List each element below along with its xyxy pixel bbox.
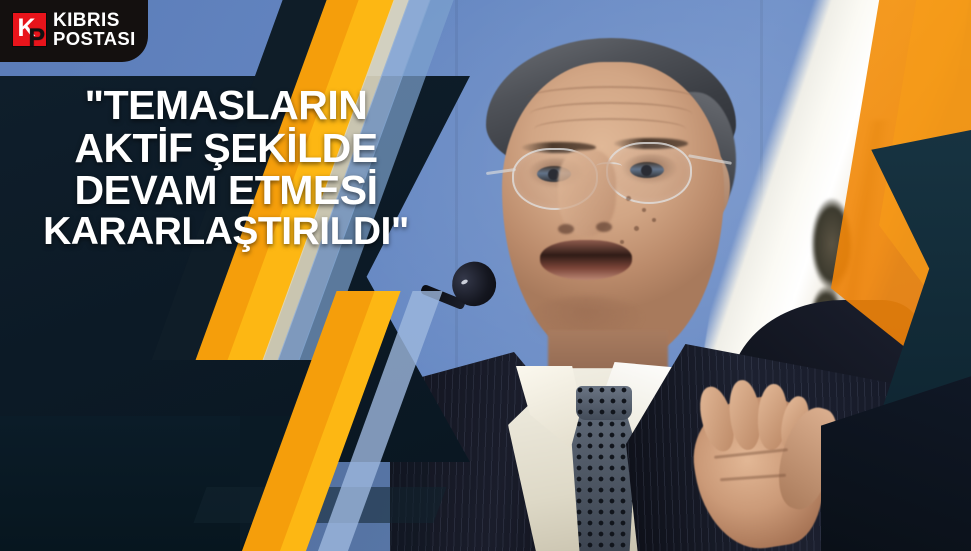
nostril-left	[558, 224, 574, 234]
cheek-mark-1	[626, 196, 631, 201]
headline-line-1: "TEMASLARIN	[0, 84, 452, 127]
cheek-mark-2	[642, 208, 646, 212]
cheek-mark-3	[634, 226, 639, 231]
necktie-knot	[576, 386, 632, 420]
nostril-right	[596, 222, 612, 232]
mouth	[540, 240, 632, 280]
headline-text: "TEMASLARIN AKTİF ŞEKİLDE DEVAM ETMESİ K…	[0, 84, 452, 252]
headline-line-4: KARARLAŞTIRILDI"	[0, 212, 452, 253]
logo-letter-p: P	[28, 26, 45, 51]
site-logo[interactable]: K P KIBRIS POSTASI	[13, 12, 136, 48]
news-thumbnail-image: "TEMASLARIN AKTİF ŞEKİLDE DEVAM ETMESİ K…	[0, 0, 971, 551]
kp-logo-mark: K P	[13, 13, 46, 46]
forehead-line-3	[534, 118, 686, 140]
logo-wordmark: KIBRIS POSTASI	[53, 12, 136, 48]
cheek-mark-5	[620, 240, 624, 244]
logo-word-line-2: POSTASI	[53, 30, 136, 48]
headline-line-2: AKTİF ŞEKİLDE	[0, 127, 452, 170]
headline-line-3: DEVAM ETMESİ	[0, 169, 452, 212]
glasses-lens-right	[606, 142, 692, 204]
cheek-mark-4	[652, 218, 656, 222]
